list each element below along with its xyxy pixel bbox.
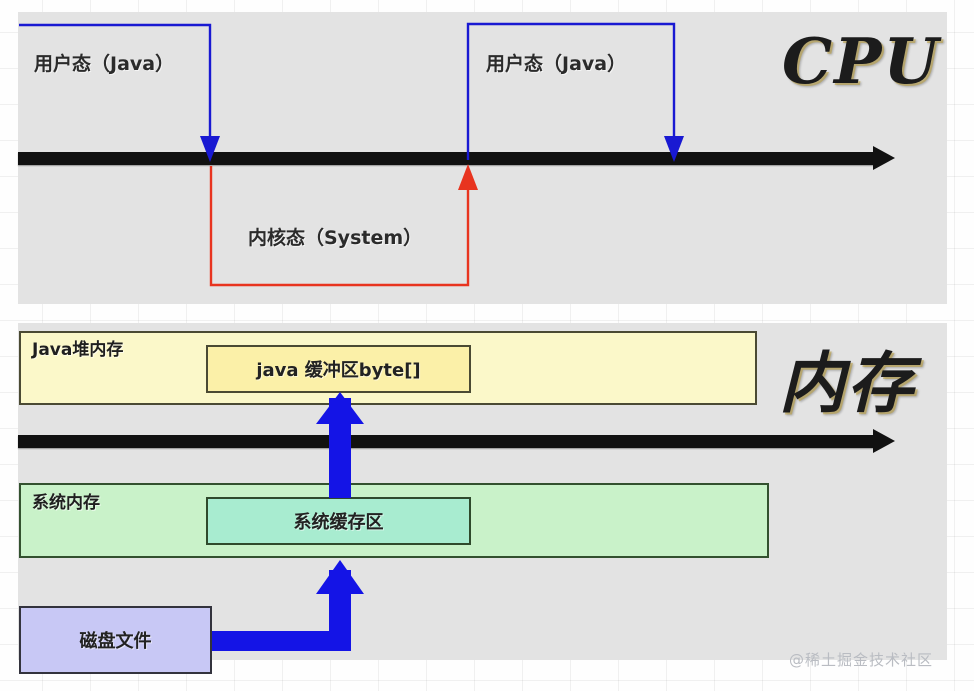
cpu-timeline xyxy=(18,152,876,165)
watermark: @稀土掘金技术社区 xyxy=(789,649,933,670)
diagram-canvas: CPU 用户态（Java） 用户态（Java） 内核态（System） 内存 J… xyxy=(0,0,974,691)
cpu-timeline-arrowhead xyxy=(873,146,895,170)
kernel-mode-label: 内核态（System） xyxy=(248,223,422,250)
user-mode-label-right: 用户态（Java） xyxy=(486,49,626,76)
user-mode-label-left: 用户态（Java） xyxy=(34,49,174,76)
memory-divider-arrowhead xyxy=(873,429,895,453)
memory-divider-line xyxy=(18,435,876,448)
java-heap-region-label: Java堆内存 xyxy=(32,335,123,360)
memory-title: 内存 xyxy=(779,330,915,426)
disk-file-box[interactable]: 磁盘文件 xyxy=(19,606,212,674)
system-buffer-box[interactable]: 系统缓存区 xyxy=(206,497,471,545)
cpu-title: CPU xyxy=(782,24,940,98)
system-memory-region-label: 系统内存 xyxy=(32,488,100,513)
java-buffer-box[interactable]: java 缓冲区byte[] xyxy=(206,345,471,393)
